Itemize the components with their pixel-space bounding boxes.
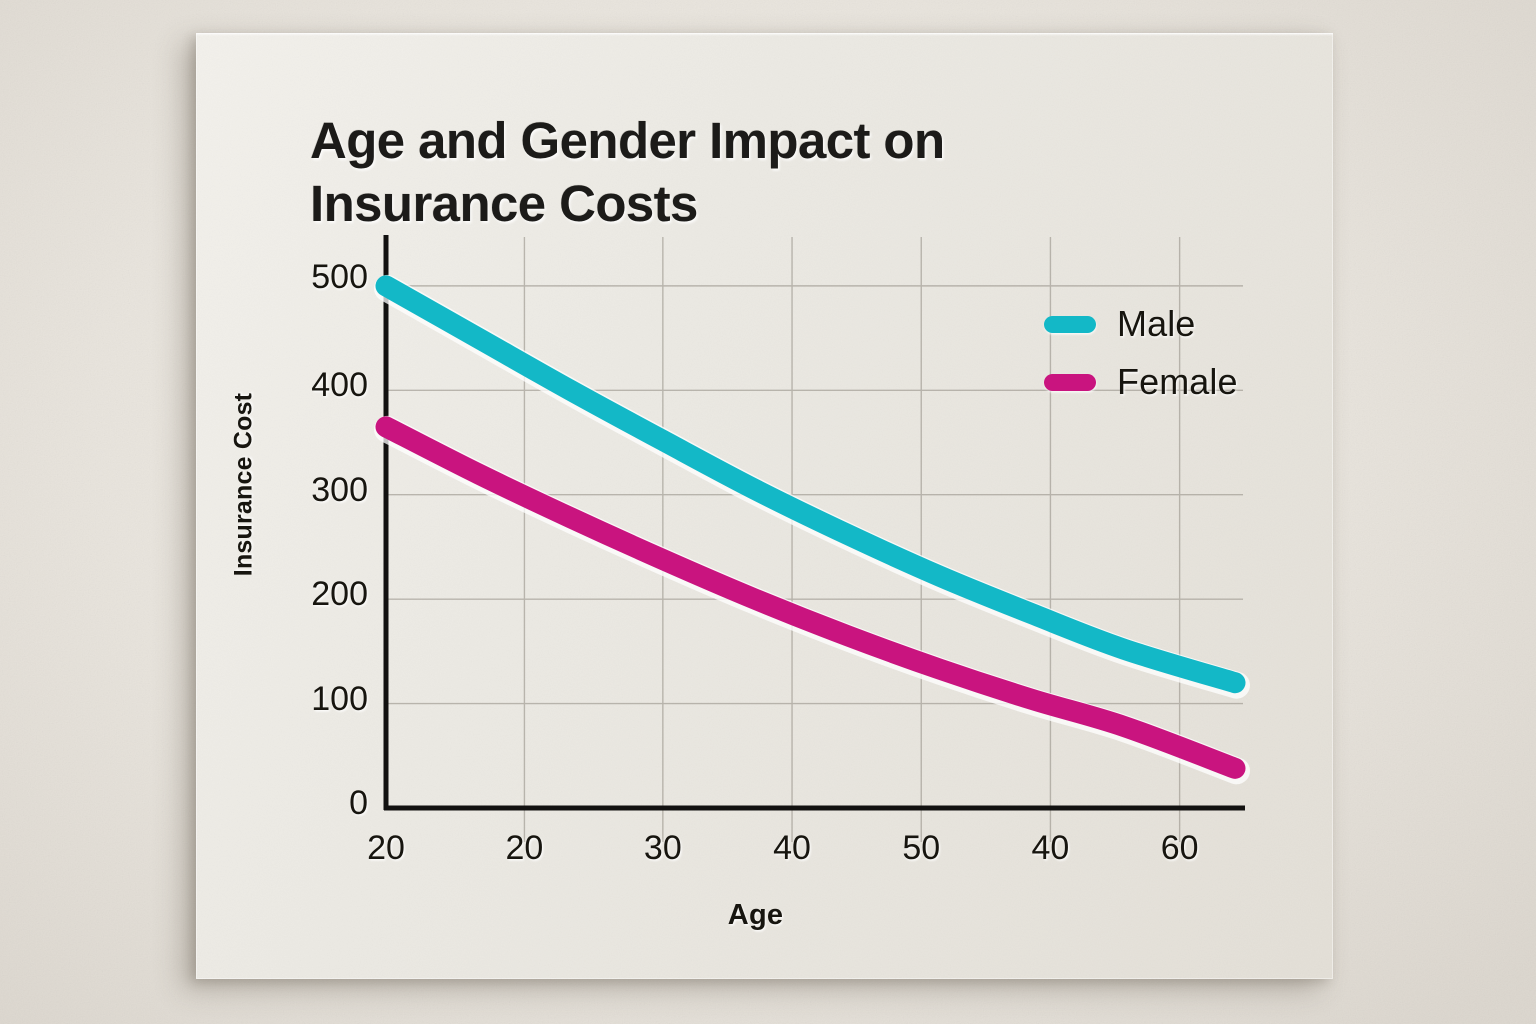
x-tick-label: 20: [474, 829, 574, 868]
x-axis-title: Age: [196, 899, 1333, 932]
x-tick-label: 20: [336, 829, 436, 868]
y-axis-title: Insurance Cost: [230, 375, 259, 595]
legend-item-female[interactable]: Female: [1044, 353, 1238, 411]
x-tick-label: 40: [1000, 829, 1100, 868]
x-tick-label: 60: [1130, 829, 1230, 868]
x-tick-label: 50: [871, 829, 971, 868]
legend-swatch-male: [1044, 316, 1096, 333]
x-tick-label: 40: [742, 829, 842, 868]
x-axis-title-text: Age: [728, 899, 783, 932]
poster-card: Age and Gender Impact on Insurance Costs…: [196, 33, 1333, 979]
y-tick-label: 0: [218, 784, 368, 823]
legend-swatch-female: [1044, 374, 1096, 391]
y-tick-label: 500: [218, 258, 368, 297]
x-tick-label: 30: [613, 829, 713, 868]
legend-label: Female: [1117, 361, 1238, 403]
chart-legend: MaleFemale: [1044, 295, 1238, 411]
legend-item-male[interactable]: Male: [1044, 295, 1238, 353]
legend-label: Male: [1117, 303, 1195, 345]
y-tick-label: 100: [218, 680, 368, 719]
chart-plot-area: 5004003002001000 20203040504060 Insuranc…: [196, 33, 1333, 979]
